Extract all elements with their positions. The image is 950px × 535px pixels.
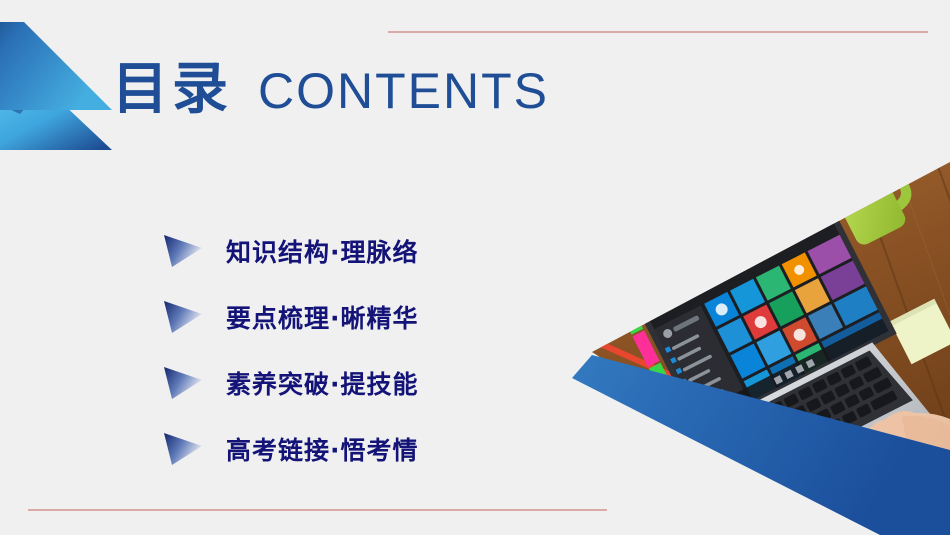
laptop-desk-photo	[550, 150, 950, 535]
page-title-en: CONTENTS	[258, 66, 549, 116]
contents-item-label: 高考链接·悟考情	[226, 431, 419, 467]
slide-root: 目录 CONTENTS 知识结构·理脉络	[0, 0, 950, 535]
triangle-right-icon	[160, 233, 204, 269]
divider-bottom	[28, 509, 607, 511]
triangle-right-icon	[160, 299, 204, 335]
contents-list: 知识结构·理脉络 要点梳理·晰精华	[160, 218, 560, 482]
contents-item-label: 素养突破·提技能	[226, 365, 419, 401]
page-title-cn: 目录	[112, 62, 232, 118]
contents-item-3[interactable]: 素养突破·提技能	[160, 350, 560, 416]
contents-item-label: 要点梳理·晰精华	[226, 299, 419, 335]
contents-item-2[interactable]: 要点梳理·晰精华	[160, 284, 560, 350]
contents-item-label: 知识结构·理脉络	[226, 233, 419, 269]
page-title: 目录 CONTENTS	[112, 62, 549, 118]
contents-item-1[interactable]: 知识结构·理脉络	[160, 218, 560, 284]
triangle-right-icon	[160, 431, 204, 467]
chevron-right-decoration	[0, 22, 112, 174]
contents-item-4[interactable]: 高考链接·悟考情	[160, 416, 560, 482]
triangle-right-icon	[160, 365, 204, 401]
divider-top	[388, 31, 928, 33]
